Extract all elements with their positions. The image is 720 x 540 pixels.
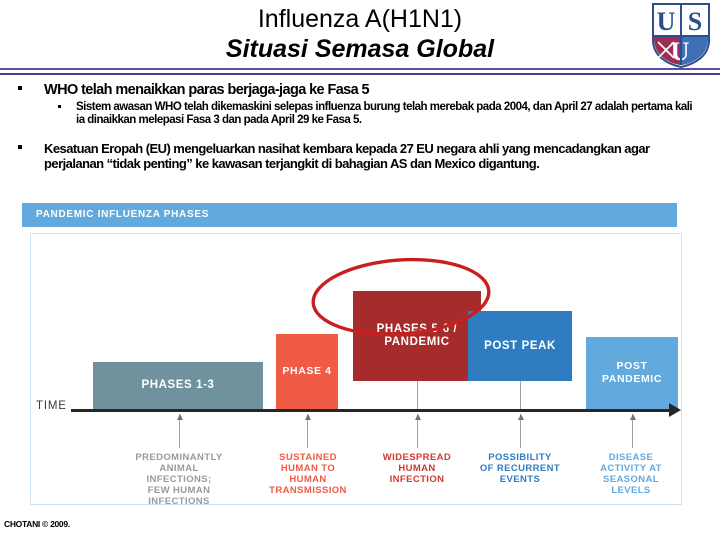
usu-shield-logo: U S U [650, 2, 712, 68]
caption-line: INFECTIONS; [121, 474, 237, 485]
bullet-item-1-sub: Sistem awasan WHO telah dikemaskini sele… [0, 101, 720, 126]
diagram-header-label: PANDEMIC INFLUENZA PHASES [36, 209, 209, 220]
caption-line: HUMAN TO [253, 463, 363, 474]
caption-line: DISEASE [581, 452, 681, 463]
phase-box-label: PHASE 4 [282, 365, 331, 378]
diagram-body: PHASES 1-3 PHASE 4 PHASES 5-6 / PANDEMIC… [30, 233, 682, 505]
caption-line: PREDOMINANTLY [121, 452, 237, 463]
bullet-item-1: WHO telah menaikkan paras berjaga-jaga k… [0, 82, 720, 98]
phase-box-phases-1-3: PHASES 1-3 [93, 362, 263, 409]
caption-arrow-5 [632, 414, 633, 448]
bullet-1-text: WHO telah menaikkan paras berjaga-jaga k… [44, 82, 720, 98]
axis-label-time: TIME [36, 400, 67, 412]
caption-line: INFECTION [363, 474, 471, 485]
phase-box-label-line2: PANDEMIC [377, 336, 458, 349]
title-divider-top [0, 68, 720, 70]
phase-box-post-pandemic: POST PANDEMIC [586, 337, 678, 409]
caption-arrow-1 [179, 414, 180, 448]
connector-line-post-peak [520, 381, 521, 409]
bullet-list: WHO telah menaikkan paras berjaga-jaga k… [0, 82, 720, 171]
phase-box-label-line1: POST [602, 360, 662, 373]
phase-box-label: POST PEAK [484, 340, 556, 353]
bullet-1-sub-text: Sistem awasan WHO telah dikemaskini sele… [76, 101, 720, 126]
bullet-dot-icon [18, 145, 22, 149]
caption-line: HUMAN [363, 463, 471, 474]
bullet-2-text: Kesatuan Eropah (EU) mengeluarkan nasiha… [44, 141, 720, 171]
caption-line: EVENTS [465, 474, 575, 485]
caption-line: POSSIBILITY [465, 452, 575, 463]
caption-sustained-human-to-human-transmission: SUSTAINED HUMAN TO HUMAN TRANSMISSION [253, 452, 363, 496]
page-title: Influenza A(H1N1) [0, 0, 720, 34]
phase-box-phase-4: PHASE 4 [276, 334, 338, 409]
bullet-dot-icon [18, 86, 22, 90]
svg-text:U: U [657, 7, 676, 36]
caption-line: TRANSMISSION [253, 485, 363, 496]
caption-line: HUMAN [253, 474, 363, 485]
caption-line: SEASONAL [581, 474, 681, 485]
phase-box-label-line2: PANDEMIC [602, 373, 662, 386]
pandemic-phases-diagram: PANDEMIC INFLUENZA PHASES PHASES 1-3 PHA… [22, 203, 690, 511]
caption-line: FEW HUMAN [121, 485, 237, 496]
caption-line: LEVELS [581, 485, 681, 496]
copyright-footer: CHOTANI © 2009. [4, 519, 70, 529]
phase-box-label: PHASES 1-3 [141, 379, 214, 392]
timeline-axis [71, 409, 671, 412]
caption-arrow-3 [417, 414, 418, 448]
phase-box-post-peak: POST PEAK [468, 311, 572, 381]
caption-arrow-4 [520, 414, 521, 448]
caption-line: OF RECURRENT [465, 463, 575, 474]
phase-box-phases-5-6-pandemic: PHASES 5-6 / PANDEMIC [353, 291, 481, 381]
caption-line: WIDESPREAD [363, 452, 471, 463]
slide-title-area: Influenza A(H1N1) Situasi Semasa Global [0, 0, 720, 64]
connector-line-phase-56 [417, 381, 418, 409]
caption-predominantly-animal-infections: PREDOMINANTLY ANIMAL INFECTIONS; FEW HUM… [121, 452, 237, 507]
caption-line: ACTIVITY AT [581, 463, 681, 474]
svg-text:S: S [688, 7, 702, 36]
bullet-item-2: Kesatuan Eropah (EU) mengeluarkan nasiha… [0, 141, 720, 171]
sub-bullet-dot-icon [58, 105, 61, 108]
caption-disease-activity-at-seasonal-levels: DISEASE ACTIVITY AT SEASONAL LEVELS [581, 452, 681, 496]
timeline-arrow-icon [669, 403, 681, 417]
caption-line: ANIMAL [121, 463, 237, 474]
title-divider-bottom [0, 73, 720, 75]
caption-widespread-human-infection: WIDESPREAD HUMAN INFECTION [363, 452, 471, 485]
phase-box-label-line1: PHASES 5-6 / [377, 323, 458, 336]
page-subtitle: Situasi Semasa Global [0, 34, 720, 64]
caption-arrow-2 [307, 414, 308, 448]
caption-line: SUSTAINED [253, 452, 363, 463]
caption-line: INFECTIONS [121, 496, 237, 507]
caption-possibility-of-recurrent-events: POSSIBILITY OF RECURRENT EVENTS [465, 452, 575, 485]
diagram-header-bar: PANDEMIC INFLUENZA PHASES [22, 203, 677, 227]
